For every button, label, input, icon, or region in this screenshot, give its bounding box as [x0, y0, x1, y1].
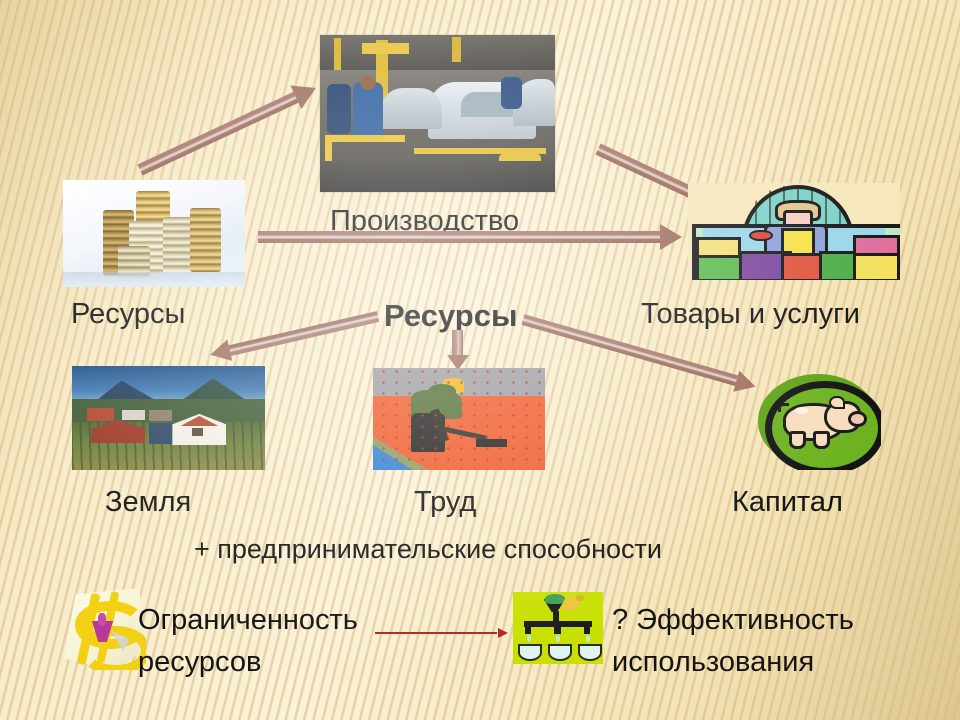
coin-stack-5 [190, 208, 221, 272]
safety-rail-1 [325, 135, 405, 141]
arrow-resources-to-labour [452, 330, 463, 355]
arrow-head [660, 224, 682, 250]
image-coins-stacks [63, 180, 245, 287]
arrow-shaft [452, 330, 463, 355]
pig-snout [848, 411, 867, 427]
label-scarcity-line2: ресурсов [138, 648, 261, 677]
factory-gantry [362, 43, 409, 54]
pig-leg-1 [789, 431, 806, 449]
arrow-head [208, 340, 232, 366]
factory-ceiling [320, 35, 555, 70]
pipe-drop-3 [584, 624, 590, 634]
arrow-resources-to-goods [258, 231, 678, 243]
label-resources-center: Ресурсы [384, 300, 517, 331]
bowl-3 [578, 644, 602, 661]
dollar-sign-icon [64, 588, 146, 670]
efficiency-icon [513, 592, 603, 664]
label-resources-left: Ресурсы [71, 300, 185, 329]
pipe-drop-1 [525, 624, 531, 634]
label-efficiency-line2: использования [612, 648, 814, 677]
bowl-2 [548, 644, 572, 661]
arrow-shaft [137, 92, 298, 176]
label-efficiency-line1: ? Эффективность [612, 606, 854, 635]
crate-fruit [853, 253, 899, 280]
label-entrepreneurship: + предпринимательские способности [194, 536, 662, 563]
worker-1 [353, 82, 384, 142]
house-roof-1 [87, 408, 114, 422]
house-3 [149, 410, 172, 421]
label-land: Земля [105, 488, 191, 517]
label-goods-and-services: Товары и услуги [641, 300, 860, 329]
arrow-shaft [258, 231, 660, 243]
factory-crane-post [334, 38, 341, 69]
dollar-purple-accent [98, 613, 105, 626]
image-capital-pig [755, 372, 881, 470]
pig-ear [829, 396, 844, 410]
image-market-stall [688, 183, 900, 280]
arrow-scarcity-to-efficiency [375, 632, 497, 634]
worker-2 [327, 84, 351, 134]
image-labour-worker [373, 368, 545, 470]
pipe-drop-2 [554, 624, 560, 634]
label-capital: Капитал [732, 488, 843, 517]
coins-shadow [63, 272, 245, 287]
field-specks [373, 368, 545, 470]
factory-foreground [320, 161, 555, 192]
label-scarcity-line1: Ограниченность [138, 606, 358, 635]
image-factory-assembly-line [320, 35, 555, 192]
bowl-1 [518, 644, 542, 661]
drop-1 [527, 635, 531, 642]
arrow-resources-to-production [137, 84, 314, 175]
car-body-2 [381, 88, 442, 129]
blue-house [149, 423, 176, 444]
arrow-shaft [229, 311, 380, 356]
pig-leg-2 [813, 431, 830, 449]
vendor-apple [749, 230, 772, 242]
image-rural-village [72, 366, 265, 470]
arrow-resources-to-land [211, 311, 379, 360]
safety-rail-post [325, 135, 332, 160]
drop-3 [586, 635, 590, 642]
white-house-window [192, 428, 204, 435]
funnel-neck [553, 611, 559, 621]
pig-tail [778, 403, 790, 412]
slide-canvas: Производство Ресурсы Ресурсы Товары и ус… [0, 0, 960, 720]
worker-3 [501, 77, 522, 108]
factory-crane-post-2 [452, 37, 461, 62]
label-labour: Труд [414, 488, 476, 517]
house-2 [122, 410, 145, 420]
